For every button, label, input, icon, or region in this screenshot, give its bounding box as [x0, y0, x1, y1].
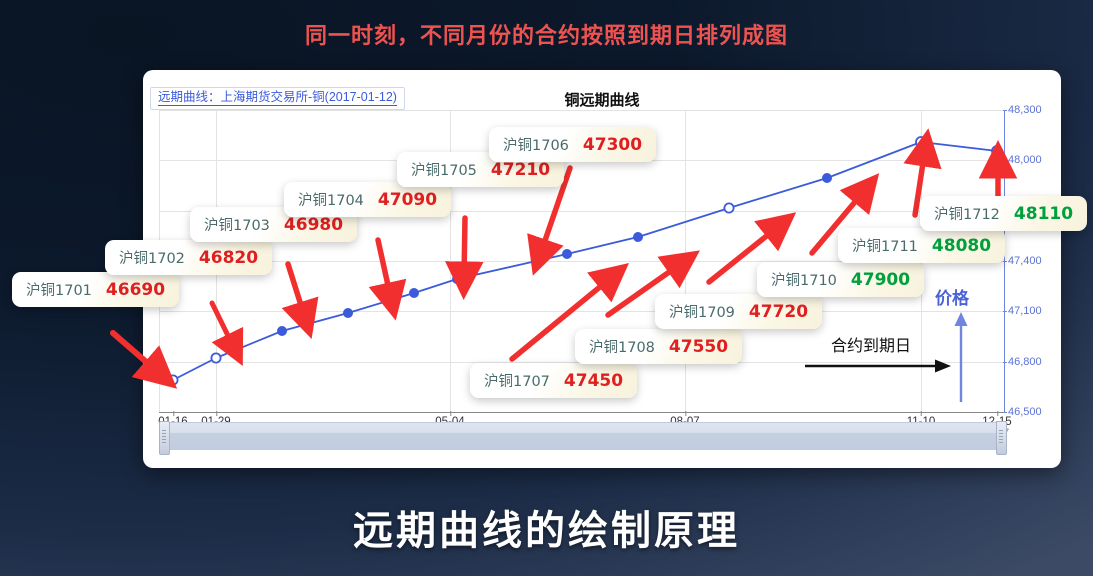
data-label-value: 47900	[851, 270, 910, 290]
y-axis-tick: 46,800	[1008, 356, 1042, 368]
price-annotation-label: 价格	[935, 284, 969, 309]
series-point[interactable]	[278, 327, 286, 335]
data-label-1711[interactable]: 沪铜1711 48080	[838, 228, 1005, 263]
data-label-name: 沪铜1707	[484, 370, 550, 391]
data-zoom-handle-right[interactable]	[996, 421, 1007, 455]
data-zoom-range[interactable]	[160, 433, 1003, 449]
data-label-name: 沪铜1701	[26, 279, 92, 300]
series-point[interactable]	[916, 137, 926, 147]
data-zoom-slider[interactable]	[159, 422, 1004, 450]
series-point[interactable]	[344, 309, 352, 317]
series-point[interactable]	[453, 275, 461, 283]
data-label-value: 47210	[491, 160, 550, 180]
series-point[interactable]	[410, 289, 418, 297]
series-point[interactable]	[823, 174, 831, 182]
data-label-1712[interactable]: 沪铜1712 48110	[920, 196, 1087, 231]
y-axis-tick: 48,000	[1008, 154, 1042, 166]
expiry-annotation-arrow	[805, 358, 953, 374]
x-axis-line	[159, 412, 1004, 413]
data-label-name: 沪铜1702	[119, 247, 185, 268]
slide-root: 同一时刻，不同月份的合约按照到期日排列成图 远期曲线：上海期货交易所-铜(201…	[0, 0, 1093, 576]
data-label-1709[interactable]: 沪铜1709 47720	[655, 294, 822, 329]
data-label-name: 沪铜1704	[298, 189, 364, 210]
data-label-value: 47300	[583, 135, 642, 155]
data-label-name: 沪铜1712	[934, 203, 1000, 224]
series-point[interactable]	[634, 233, 642, 241]
data-label-value: 47550	[669, 337, 728, 357]
data-label-name: 沪铜1709	[669, 301, 735, 322]
series-point[interactable]	[211, 353, 220, 362]
series-point[interactable]	[563, 250, 571, 258]
data-label-value: 48080	[932, 236, 991, 256]
data-label-name: 沪铜1703	[204, 214, 270, 235]
data-label-name: 沪铜1708	[589, 336, 655, 357]
data-label-1710[interactable]: 沪铜1710 47900	[757, 262, 924, 297]
expiry-annotation-label: 合约到期日	[831, 332, 911, 356]
data-label-1707[interactable]: 沪铜1707 47450	[470, 363, 637, 398]
price-annotation-arrow	[952, 310, 970, 402]
data-label-1708[interactable]: 沪铜1708 47550	[575, 329, 742, 364]
data-label-value: 47450	[564, 371, 623, 391]
data-label-name: 沪铜1710	[771, 269, 837, 290]
slide-headline: 同一时刻，不同月份的合约按照到期日排列成图	[0, 18, 1093, 50]
data-label-value: 46690	[106, 280, 165, 300]
series-point[interactable]	[992, 146, 1002, 156]
data-zoom-handle-left[interactable]	[159, 421, 170, 455]
data-label-1704[interactable]: 沪铜1704 47090	[284, 182, 451, 217]
series-point[interactable]	[724, 203, 733, 212]
y-axis-tick: 47,400	[1008, 255, 1042, 267]
data-label-value: 47720	[749, 302, 808, 322]
data-label-1702[interactable]: 沪铜1702 46820	[105, 240, 272, 275]
chart-title: 铜远期曲线	[143, 89, 1061, 110]
y-axis-tick: 47,100	[1008, 305, 1042, 317]
slide-bottom-title: 远期曲线的绘制原理	[0, 498, 1093, 556]
data-label-value: 48110	[1014, 204, 1073, 224]
data-label-name: 沪铜1706	[503, 134, 569, 155]
y-axis-tick: 48,300	[1008, 104, 1042, 116]
data-label-name: 沪铜1705	[411, 159, 477, 180]
series-point[interactable]	[168, 375, 177, 384]
data-label-value: 46820	[199, 248, 258, 268]
data-label-1706[interactable]: 沪铜1706 47300	[489, 127, 656, 162]
data-label-value: 46980	[284, 215, 343, 235]
data-label-name: 沪铜1711	[852, 235, 918, 256]
data-label-1701[interactable]: 沪铜1701 46690	[12, 272, 179, 307]
y-axis-tick: 46,500	[1008, 406, 1042, 418]
data-label-value: 47090	[378, 190, 437, 210]
